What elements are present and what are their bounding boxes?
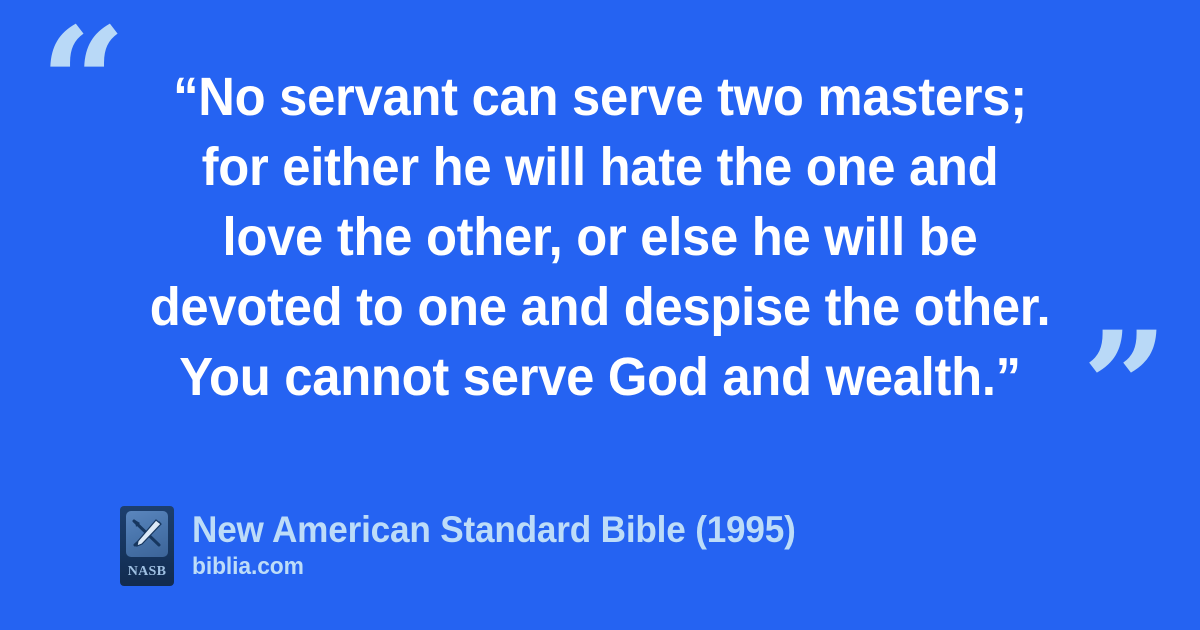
quote-line: “No servant can serve two masters; [36,62,1164,132]
attribution-footer: NASB New American Standard Bible (1995) … [120,506,827,586]
source-url-label[interactable]: biblia.com [192,552,796,582]
quote-line: love the other, or else he will be [36,202,1164,272]
quote-card: “ “No servant can serve two masters; for… [0,0,1200,630]
attribution-block: New American Standard Bible (1995) bibli… [192,506,827,582]
decorative-close-quote-icon: ” [1082,312,1166,462]
quote-text: “No servant can serve two masters; for e… [0,62,1200,412]
quote-line: You cannot serve God and wealth.” [36,342,1164,412]
quote-line: devoted to one and despise the other. [36,272,1164,342]
nasb-logo-icon: NASB [120,506,174,586]
logo-cross-mark-icon [126,511,168,557]
quote-line: for either he will hate the one and [36,132,1164,202]
logo-wordmark: NASB [120,565,174,579]
bible-version-label: New American Standard Bible (1995) [192,508,796,552]
